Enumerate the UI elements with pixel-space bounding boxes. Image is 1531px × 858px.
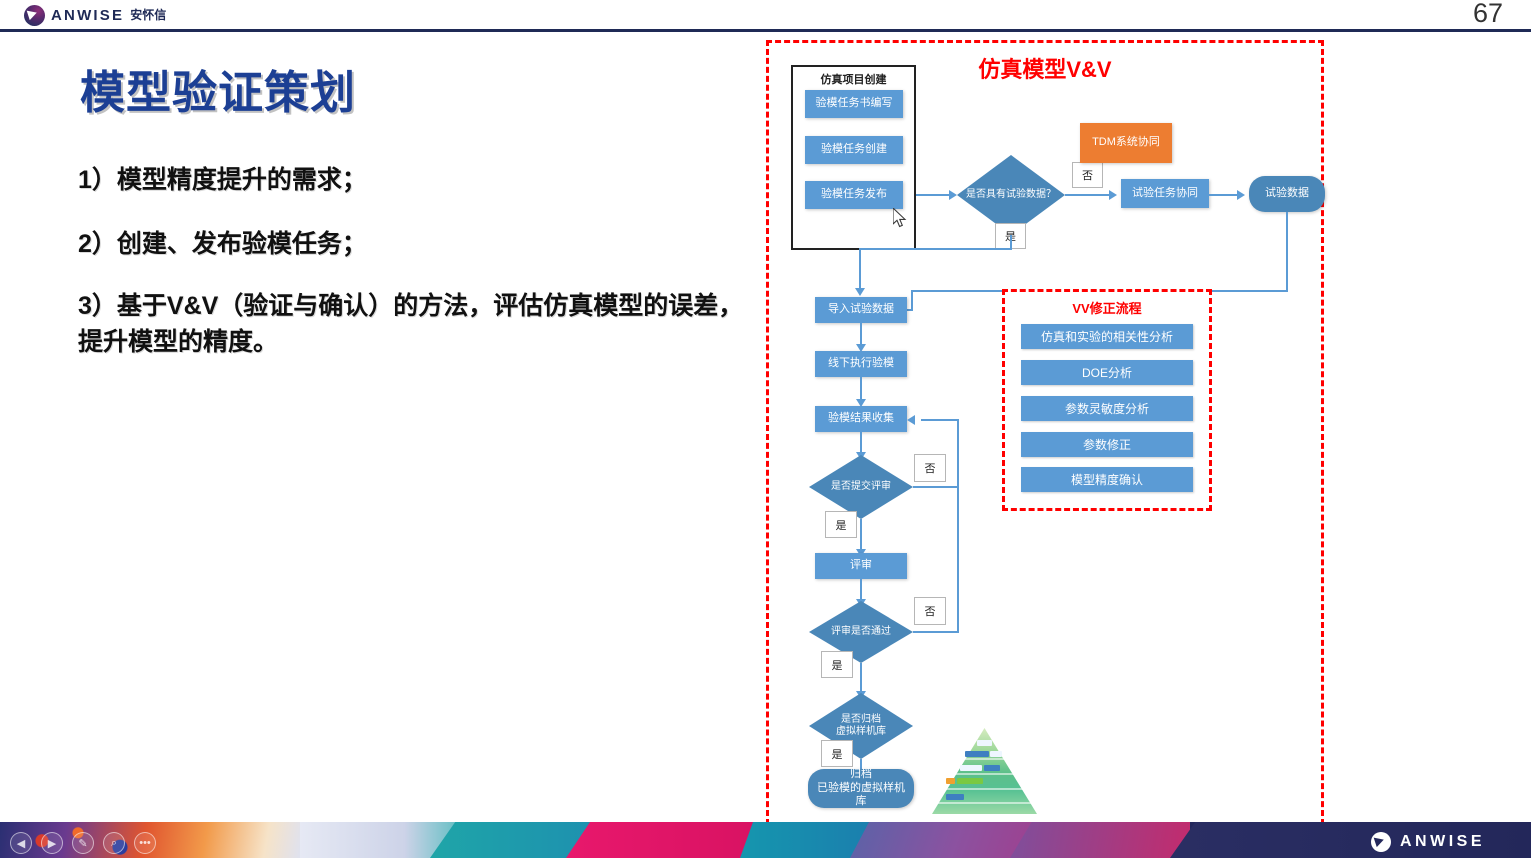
anwise-footer-logo-icon: [1371, 832, 1391, 852]
pyramid-band-1: [932, 758, 1037, 760]
prev-slide-icon[interactable]: ◀: [10, 832, 32, 854]
connector-test-data-up-to-import: [911, 290, 913, 310]
pyramid-band-4: [932, 802, 1037, 804]
connector-no-submit-right: [913, 486, 959, 488]
vv-item-doe-analysis[interactable]: DOE分析: [1021, 360, 1193, 385]
connector-yes-down-to-import: [859, 248, 861, 292]
bullet-item-1: 1）模型精度提升的需求；: [78, 162, 758, 200]
page-title: 模型验证策划: [80, 56, 356, 121]
branch-label-yes-archive: 是: [821, 740, 853, 767]
header-divider: [0, 29, 1531, 32]
flowchart-container: 仿真模型V&V 仿真项目创建 验模任务书编写 验模任务创建 验模任务发布 是否具…: [766, 40, 1324, 825]
connector-publish-to-decision: [916, 194, 953, 196]
pyramid-chip-7: [957, 778, 983, 784]
arrowhead-to-test-task: [1109, 190, 1117, 200]
pyramid-chip-3: [990, 751, 1002, 757]
connector-test-data-down: [1286, 212, 1288, 292]
page-number: 67: [1473, 0, 1503, 29]
pen-tool-icon[interactable]: ✎: [72, 832, 94, 854]
node-publish-task[interactable]: 验模任务发布: [805, 181, 903, 209]
vv-item-parameter-correction[interactable]: 参数修正: [1021, 432, 1193, 457]
decision-archive-line2: 虚拟样机库: [836, 726, 886, 738]
connector-no-submit-left: [921, 419, 959, 421]
node-archive-line1: 归档: [850, 768, 872, 782]
decision-has-test-data-label: 是否具有试验数据？: [966, 189, 1056, 201]
bullet-item-3: 3）基于V&V（验证与确认）的方法，评估仿真模型的误差，提升模型的精度。: [78, 289, 758, 360]
footer-pattern-magenta: [566, 822, 766, 858]
arrowhead-to-decision: [949, 190, 957, 200]
node-archive-line2: 已验模的虚拟样机库: [812, 782, 910, 810]
branch-label-no-top: 否: [1072, 162, 1103, 188]
mouse-cursor: [893, 208, 907, 228]
brand-logo: ANWISE 安怀信: [24, 3, 166, 27]
zoom-tool-icon[interactable]: ⌕: [103, 832, 125, 854]
node-offline-execute[interactable]: 线下执行验模: [815, 351, 907, 377]
arrowhead-to-import: [855, 288, 865, 296]
node-tdm-collaboration[interactable]: TDM系统协同: [1080, 123, 1172, 163]
pyramid-chip-1: [977, 740, 992, 746]
branch-label-yes-pass: 是: [821, 651, 853, 678]
footer-pattern-teal2: [740, 822, 870, 858]
decision-archive-label: 是否归档 虚拟样机库: [836, 714, 886, 738]
project-creation-group-label: 仿真项目创建: [793, 71, 914, 87]
vv-correction-process-box: VV修正流程 仿真和实验的相关性分析 DOE分析 参数灵敏度分析 参数修正 模型…: [1002, 289, 1212, 511]
footer-pattern-pink: [1010, 822, 1190, 858]
decision-archive-line1: 是否归档: [836, 714, 886, 726]
footer-bar: ◀ ▶ ✎ ⌕ ••• ANWISE: [0, 822, 1531, 858]
connector-submit-to-review: [860, 519, 862, 553]
vv-item-accuracy-confirmation[interactable]: 模型精度确认: [1021, 467, 1193, 492]
arrowhead-back-to-collect: [907, 415, 915, 425]
footer-brand-logo: ANWISE: [1371, 832, 1485, 852]
node-collect-results[interactable]: 验模结果收集: [815, 406, 907, 432]
pyramid-graphic: [932, 728, 1037, 814]
vv-item-sensitivity-analysis[interactable]: 参数灵敏度分析: [1021, 396, 1193, 421]
brand-name: ANWISE: [51, 5, 124, 26]
footer-brand-name: ANWISE: [1400, 833, 1485, 851]
node-review[interactable]: 评审: [815, 553, 907, 579]
bullet-item-2: 2）创建、发布验模任务；: [78, 226, 758, 264]
pyramid-chip-4: [960, 765, 982, 771]
node-test-task-collaboration[interactable]: 试验任务协同: [1121, 179, 1209, 208]
connector-no-pass-right: [913, 631, 959, 633]
presentation-controls: ◀ ▶ ✎ ⌕ •••: [10, 832, 156, 854]
connector-no-pass-up: [957, 419, 959, 633]
bullet-list: 1）模型精度提升的需求； 2）创建、发布验模任务； 3）基于V&V（验证与确认）…: [78, 162, 758, 360]
header-bar: ANWISE 安怀信 67: [0, 0, 1531, 31]
node-import-test-data[interactable]: 导入试验数据: [815, 297, 907, 323]
pyramid-chip-5: [984, 765, 1000, 771]
connector-decision-to-test-task: [1065, 194, 1113, 196]
next-slide-icon[interactable]: ▶: [41, 832, 63, 854]
branch-label-no-submit: 否: [914, 454, 946, 482]
connector-yes-left: [859, 248, 1012, 250]
branch-label-no-pass: 否: [914, 597, 946, 625]
decision-submit-review-label: 是否提交评审: [831, 481, 891, 493]
pyramid-chip-6: [946, 778, 955, 784]
node-archive-vm-library[interactable]: 归档 已验模的虚拟样机库: [808, 769, 914, 808]
pyramid-chip-2: [965, 751, 989, 757]
node-test-data[interactable]: 试验数据: [1249, 176, 1325, 212]
decision-review-pass-label: 评审是否通过: [831, 626, 891, 638]
node-write-task-book[interactable]: 验模任务书编写: [805, 90, 903, 118]
more-options-icon[interactable]: •••: [134, 832, 156, 854]
anwise-logo-icon: [24, 5, 45, 26]
decision-submit-review[interactable]: 是否提交评审: [809, 455, 913, 519]
node-create-task[interactable]: 验模任务创建: [805, 136, 903, 164]
vv-item-correlation-analysis[interactable]: 仿真和实验的相关性分析: [1021, 324, 1193, 349]
footer-pattern-purple: [850, 822, 1040, 858]
slide: ANWISE 安怀信 67 模型验证策划 1）模型精度提升的需求； 2）创建、发…: [0, 0, 1531, 858]
brand-name-cn: 安怀信: [130, 5, 166, 26]
vv-correction-title: VV修正流程: [1005, 298, 1209, 317]
branch-label-yes-submit: 是: [825, 511, 857, 538]
pyramid-band-2: [932, 773, 1037, 775]
pyramid-band-3: [932, 788, 1037, 790]
arrowhead-to-test-data: [1237, 190, 1245, 200]
pyramid-chip-8: [946, 794, 964, 800]
